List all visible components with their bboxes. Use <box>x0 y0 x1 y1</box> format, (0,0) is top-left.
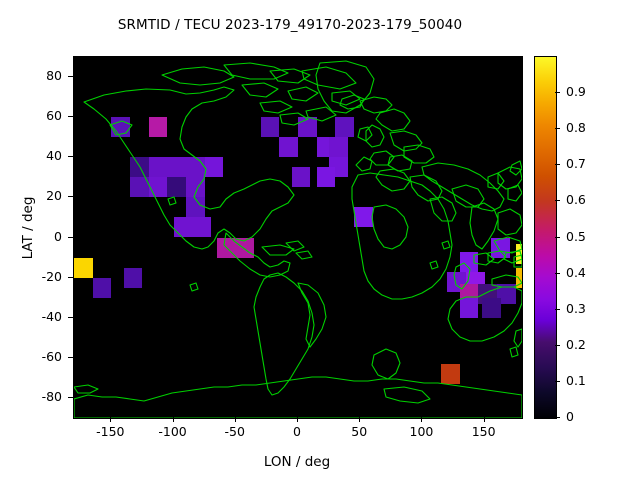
colorbar-tick-label: 0 <box>566 409 574 424</box>
colorbar-tick <box>555 309 560 310</box>
x-tick-label: 100 <box>386 424 456 439</box>
x-tick-label: 150 <box>449 424 519 439</box>
colorbar-tick-label: 0.7 <box>566 156 586 171</box>
y-axis-title: LAT / deg <box>20 148 36 308</box>
colorbar-tick <box>555 273 560 274</box>
x-tick <box>421 417 422 422</box>
y-tick <box>68 237 73 238</box>
y-tick <box>68 397 73 398</box>
y-tick <box>68 277 73 278</box>
x-tick <box>235 417 236 422</box>
y-tick <box>68 357 73 358</box>
colorbar-tick <box>555 200 560 201</box>
x-tick <box>297 417 298 422</box>
colorbar-tick-label: 0.6 <box>566 192 586 207</box>
colorbar-tick-label: 0.1 <box>566 373 586 388</box>
y-tick-label: 80 <box>16 68 62 83</box>
x-tick <box>110 417 111 422</box>
x-tick-label: -100 <box>138 424 208 439</box>
colorbar-tick-label: 0.3 <box>566 301 586 316</box>
colorbar-tick <box>555 128 560 129</box>
y-tick <box>68 76 73 77</box>
y-tick <box>68 116 73 117</box>
map-plot-area[interactable] <box>73 56 523 419</box>
x-tick <box>173 417 174 422</box>
y-tick-label: -40 <box>16 309 62 324</box>
x-tick <box>484 417 485 422</box>
figure-canvas: SRMTID / TECU 2023-179_49170-2023-179_50… <box>0 0 640 480</box>
coastline-layer <box>74 57 522 418</box>
x-tick-label: 50 <box>324 424 394 439</box>
colorbar-tick-label: 0.5 <box>566 229 586 244</box>
colorbar-tick-label: 0.4 <box>566 265 586 280</box>
x-tick <box>359 417 360 422</box>
colorbar-tick-label: 0.8 <box>566 120 586 135</box>
colorbar-tick-label: 0.2 <box>566 337 586 352</box>
colorbar-tick <box>555 345 560 346</box>
colorbar-tick-label: 0.9 <box>566 84 586 99</box>
y-tick-label: 60 <box>16 108 62 123</box>
y-tick <box>68 317 73 318</box>
x-axis-title: LON / deg <box>73 454 521 470</box>
x-tick-label: 0 <box>262 424 332 439</box>
colorbar-tick <box>555 237 560 238</box>
colorbar-tick <box>555 164 560 165</box>
y-tick-label: -60 <box>16 349 62 364</box>
x-tick-label: -150 <box>75 424 145 439</box>
colorbar-tick <box>555 381 560 382</box>
chart-title: SRMTID / TECU 2023-179_49170-2023-179_50… <box>0 17 580 33</box>
colorbar-tick <box>555 92 560 93</box>
y-tick <box>68 156 73 157</box>
y-tick <box>68 196 73 197</box>
y-tick-label: -80 <box>16 389 62 404</box>
x-tick-label: -50 <box>200 424 270 439</box>
colorbar <box>534 56 557 419</box>
colorbar-tick <box>555 417 560 418</box>
